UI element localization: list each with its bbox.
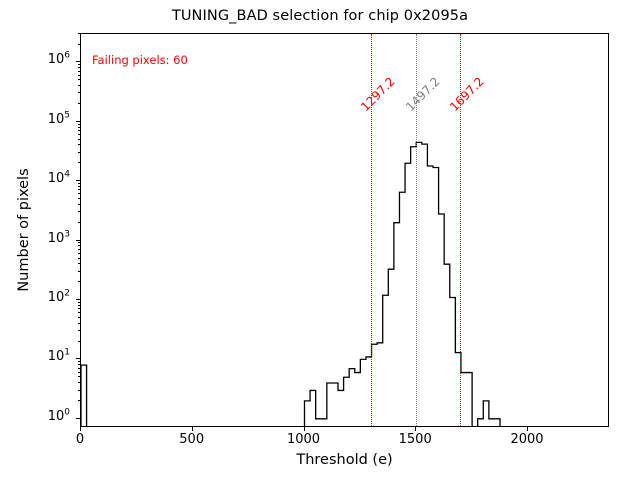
x-axis-label: Threshold (e) [80,452,609,468]
histogram-trace [81,34,609,427]
histogram-figure: TUNING_BAD selection for chip 0x2095a Nu… [0,0,640,480]
x-tick-label: 2000 [510,432,543,447]
x-tick-mark [80,427,81,431]
x-tick-mark [304,427,305,431]
x-tick-label: 500 [179,432,204,447]
x-tick-mark [527,427,528,431]
x-tick-mark [192,427,193,431]
x-tick-label: 1000 [287,432,320,447]
y-axis-label: Number of pixels [13,33,35,427]
failing-pixels-annotation: Failing pixels: 60 [92,53,188,67]
x-tick-mark [415,427,416,431]
y-tick-label: 101 [0,350,70,363]
x-tick-label: 1500 [399,432,432,447]
y-tick-label: 104 [0,172,70,185]
x-tick-label: 0 [76,432,84,447]
chart-title: TUNING_BAD selection for chip 0x2095a [0,8,640,24]
y-tick-label: 100 [0,410,70,423]
histogram-step-path [81,142,500,427]
y-tick-label: 105 [0,113,70,126]
y-tick-label: 106 [0,53,70,66]
y-tick-label: 102 [0,291,70,304]
y-tick-label: 103 [0,232,70,245]
plot-area [80,33,609,427]
